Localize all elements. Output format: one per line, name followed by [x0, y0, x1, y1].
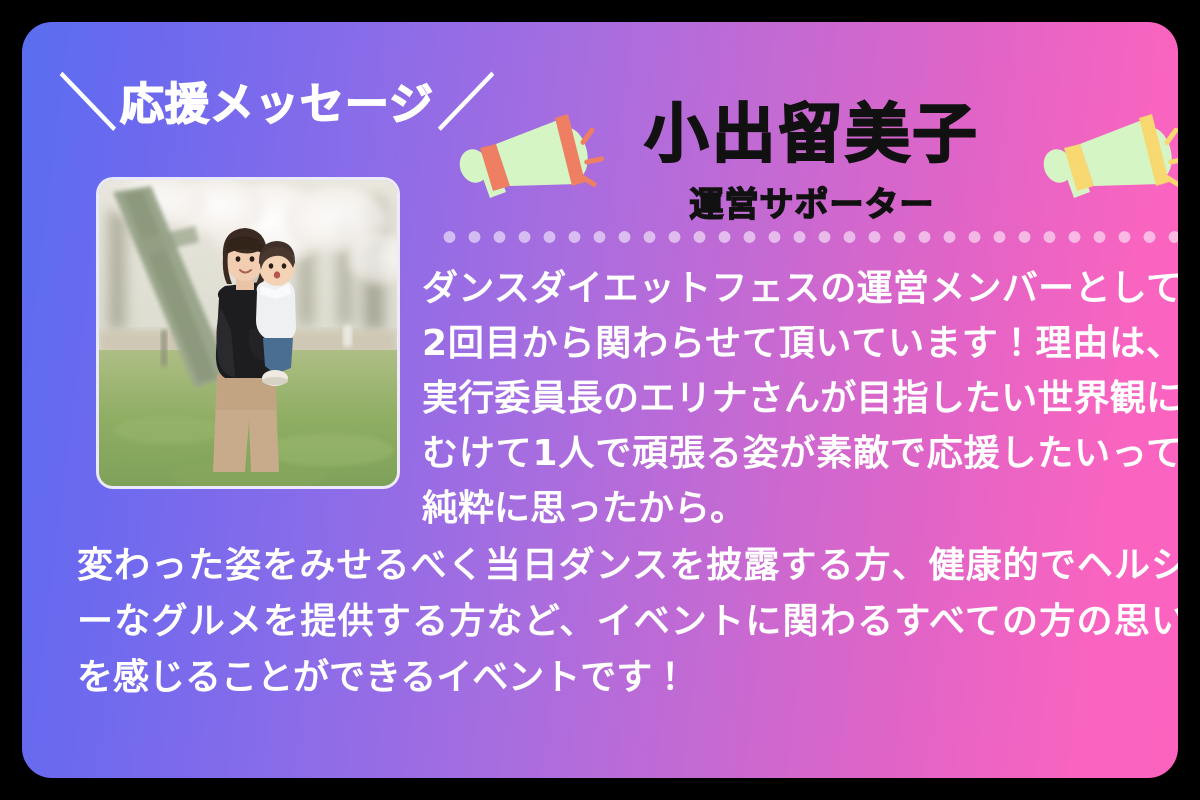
supporter-name-row: 小出留美子	[422, 80, 1178, 190]
message-paragraph-2: 変わった姿をみせるべく当日ダンスを披露する方、健康的でヘルシーなグルメを提供する…	[77, 538, 1178, 705]
page-root: ＼ 応援メッセージ ／	[0, 0, 1200, 800]
message-paragraph-1: ダンスダイエットフェスの運営メンバーとして2回目から関わらせて頂いています！理由…	[422, 261, 1178, 536]
photo-illustration	[99, 180, 397, 486]
slash-left-decoration: ＼	[59, 73, 117, 138]
supporter-photo	[99, 180, 397, 486]
supporter-name: 小出留美子	[645, 103, 980, 167]
supporter-role: 運営サポーター	[422, 188, 1178, 222]
dotted-divider	[437, 230, 1178, 244]
profile-header: 小出留美子 運営サポーター	[422, 80, 1178, 230]
message-card: ＼ 応援メッセージ ／	[22, 22, 1178, 778]
headline-text: 応援メッセージ	[120, 83, 434, 127]
